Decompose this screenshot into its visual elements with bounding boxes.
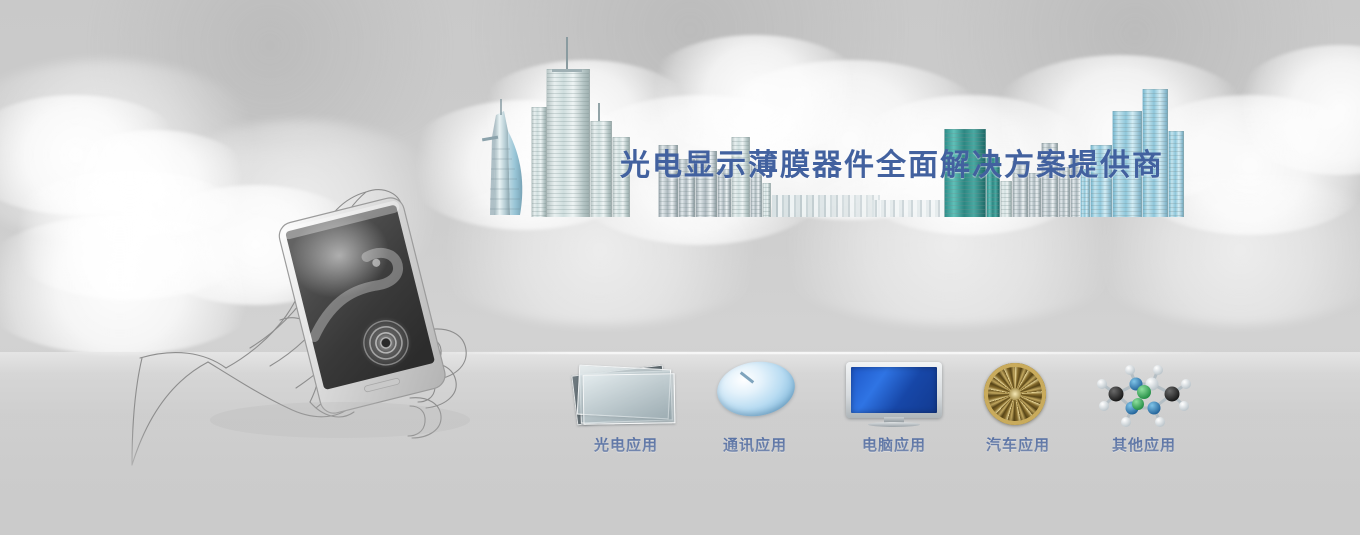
skyscraper (531, 107, 547, 217)
skyscraper (546, 69, 590, 217)
far-city-strip (772, 195, 880, 217)
page-title: 光电显示薄膜器件全面解决方案提供商 (620, 140, 1164, 184)
bottom-fade (0, 425, 1360, 535)
molecule-icon (1084, 360, 1204, 430)
hero-banner: 光电显示薄膜器件全面解决方案提供商 光电应用 通讯应用 (0, 0, 1360, 535)
computer-monitor-icon (834, 360, 954, 430)
far-city-strip (872, 200, 952, 217)
skyscraper (590, 121, 612, 217)
glass-film-sheets-icon (566, 360, 686, 430)
satellite-dish-icon (695, 360, 815, 430)
skyscraper (762, 183, 771, 217)
skyscraper (1000, 181, 1012, 217)
car-wheel-icon (958, 360, 1078, 430)
skyscraper (1168, 131, 1184, 217)
